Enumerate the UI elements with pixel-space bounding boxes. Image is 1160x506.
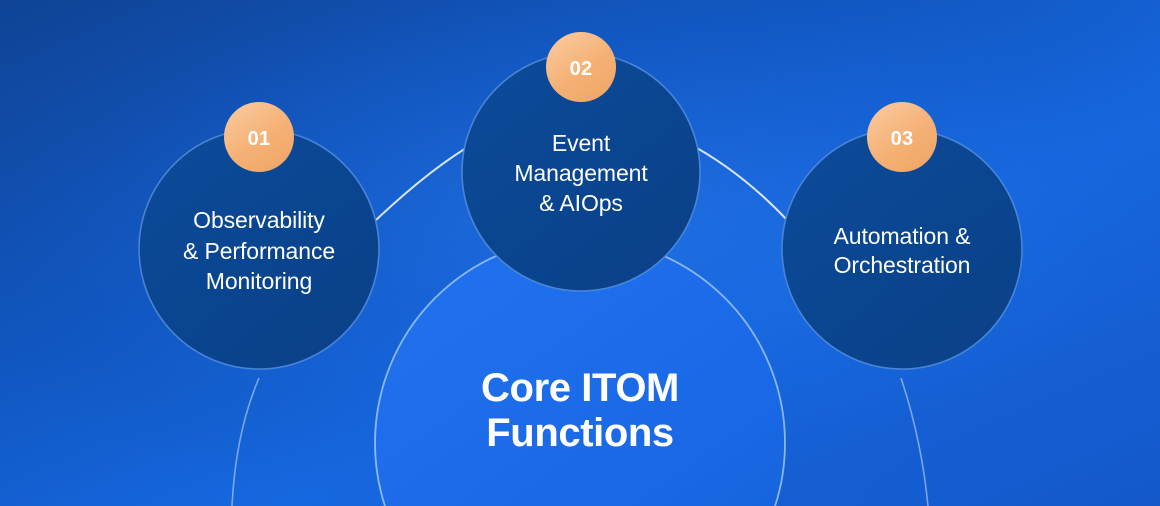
- badge-3[interactable]: 03: [867, 102, 937, 172]
- badge-1[interactable]: 01: [224, 102, 294, 172]
- badge-2[interactable]: 02: [546, 32, 616, 102]
- diagram-canvas: Observability & Performance Monitoring E…: [0, 0, 1160, 506]
- badge-circle-3[interactable]: [867, 102, 937, 172]
- badge-circle-2[interactable]: [546, 32, 616, 102]
- badge-circle-1[interactable]: [224, 102, 294, 172]
